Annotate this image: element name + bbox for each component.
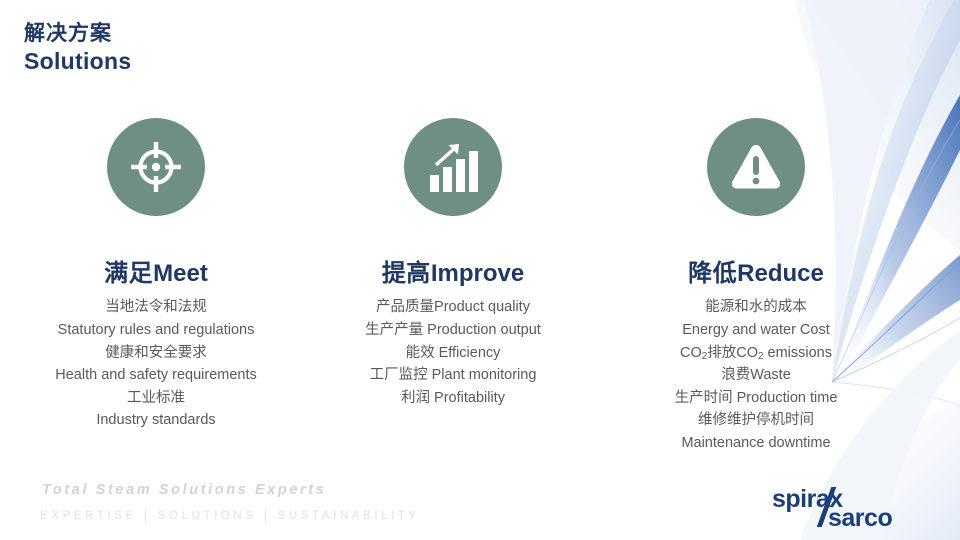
list-item: 维修维护停机时间 <box>606 409 906 432</box>
footer-pillars: EXPERTISE SOLUTIONS SUSTAINABILITY <box>40 509 420 523</box>
logo-word-sarco: sarco <box>828 504 892 533</box>
page-title: 解决方案 Solutions <box>24 22 131 75</box>
list-item: 生产时间 Production time <box>606 387 906 410</box>
spirax-sarco-logo: spirax sarco <box>772 485 942 531</box>
list-item: Industry standards <box>6 409 306 432</box>
column-lines: 能源和水的成本 Energy and water Cost CO2排放CO2 e… <box>606 296 906 454</box>
list-item: Statutory rules and regulations <box>6 319 306 342</box>
column-heading-cn: 提高 <box>382 260 431 287</box>
footer-pillar-expertise: EXPERTISE <box>40 510 137 522</box>
column-heading-en: Improve <box>431 260 524 287</box>
column-heading-en: Reduce <box>737 260 824 287</box>
column-heading: 降低Reduce <box>606 261 906 287</box>
list-item: Energy and water Cost <box>606 319 906 342</box>
solution-column-reduce: 降低Reduce 能源和水的成本 Energy and water Cost C… <box>606 118 906 455</box>
list-item: 能效 Efficiency <box>303 342 603 365</box>
column-heading: 提高Improve <box>303 261 603 287</box>
warning-triangle-icon <box>707 118 805 216</box>
target-crosshair-icon <box>107 118 205 216</box>
slide-canvas: 解决方案 Solutions 满足Meet 当地法令和法规 Statutory … <box>0 0 960 540</box>
list-item: 生产产量 Production output <box>303 319 603 342</box>
column-heading-cn: 满足 <box>104 260 153 287</box>
list-item: 产品质量Product quality <box>303 296 603 319</box>
footer-divider <box>265 509 266 523</box>
bar-chart-growth-icon <box>404 118 502 216</box>
list-item: 利润 Profitability <box>303 387 603 410</box>
column-heading-cn: 降低 <box>688 260 737 287</box>
list-item: 健康和安全要求 <box>6 342 306 365</box>
column-lines: 当地法令和法规 Statutory rules and regulations … <box>6 296 306 432</box>
solution-column-improve: 提高Improve 产品质量Product quality 生产产量 Produ… <box>303 118 603 409</box>
list-item: 工厂监控 Plant monitoring <box>303 364 603 387</box>
list-item: Health and safety requirements <box>6 364 306 387</box>
page-title-en: Solutions <box>24 48 131 75</box>
footer-pillar-solutions: SOLUTIONS <box>158 510 257 522</box>
solution-column-meet: 满足Meet 当地法令和法规 Statutory rules and regul… <box>6 118 306 432</box>
list-item-co2: CO2排放CO2 emissions <box>606 342 906 365</box>
list-item: 能源和水的成本 <box>606 296 906 319</box>
list-item: Maintenance downtime <box>606 432 906 455</box>
column-heading-en: Meet <box>153 260 208 287</box>
footer-tagline: Total Steam Solutions Experts <box>42 482 326 498</box>
column-lines: 产品质量Product quality 生产产量 Production outp… <box>303 296 603 409</box>
page-title-cn: 解决方案 <box>24 22 131 47</box>
footer-pillar-sustainability: SUSTAINABILITY <box>278 510 420 522</box>
column-heading: 满足Meet <box>6 261 306 287</box>
footer-divider <box>145 509 146 523</box>
list-item: 浪费Waste <box>606 364 906 387</box>
list-item: 工业标准 <box>6 387 306 410</box>
list-item: 当地法令和法规 <box>6 296 306 319</box>
